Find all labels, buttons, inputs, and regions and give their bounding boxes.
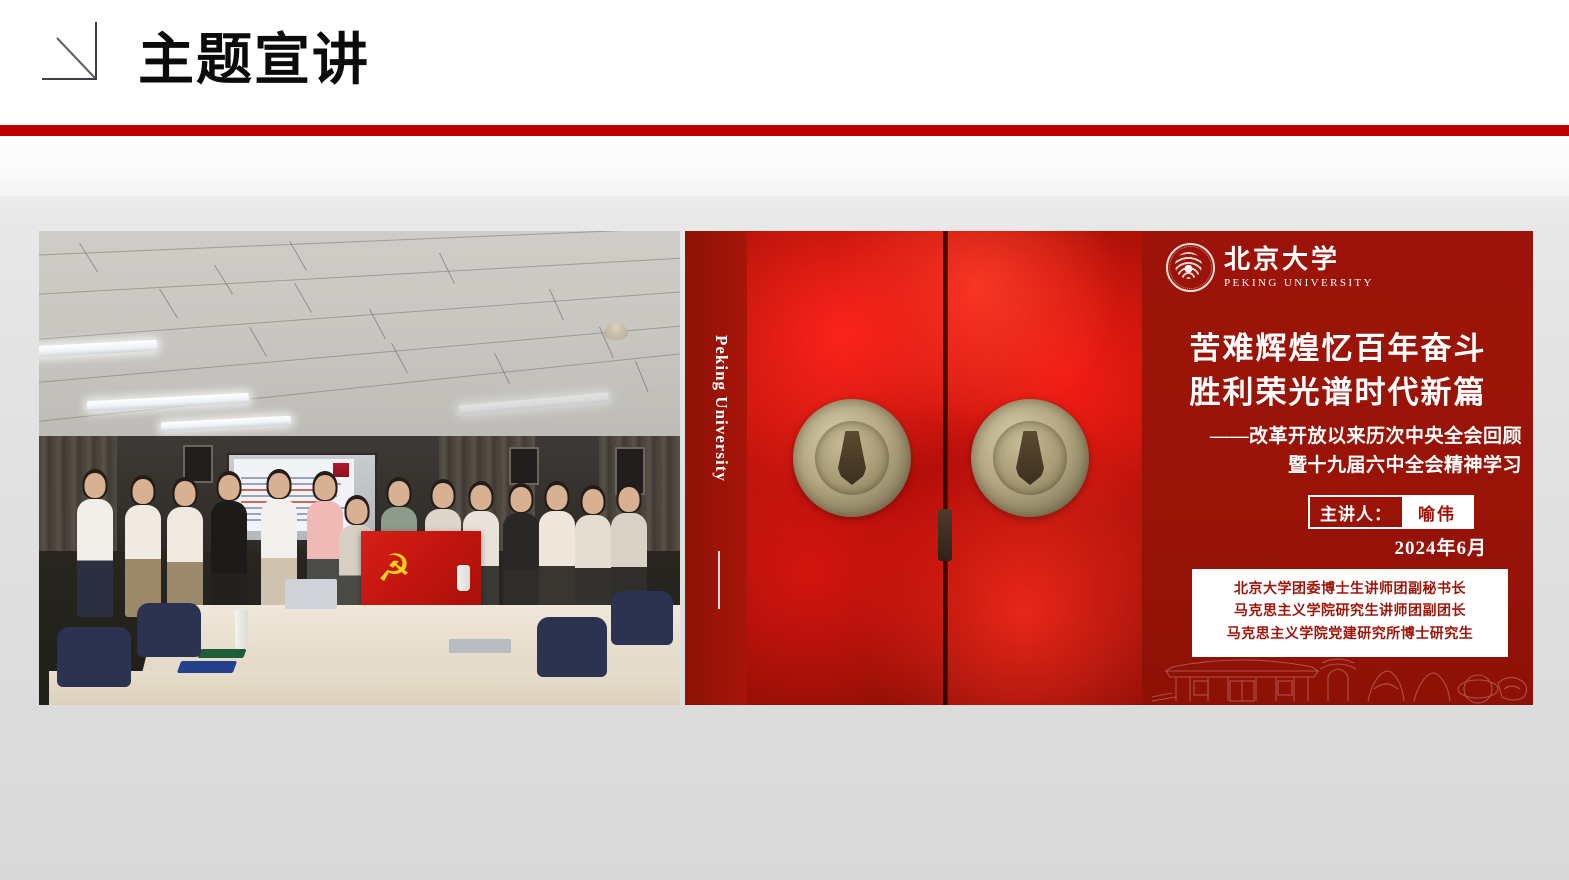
lecture-poster[interactable]: Peking University 北京大学 PEKING UNIV	[685, 231, 1533, 705]
brass-knocker-icon	[971, 399, 1089, 517]
person	[211, 501, 247, 617]
poster-spine: Peking University	[685, 231, 747, 705]
poster-title-line: 胜利荣光谱时代新篇	[1162, 371, 1514, 415]
person	[539, 511, 575, 617]
pku-brand: 北京大学 PEKING UNIVERSITY	[1166, 243, 1374, 292]
pku-name-cn: 北京大学	[1224, 247, 1374, 273]
person	[575, 515, 611, 617]
ceiling-light	[39, 340, 157, 358]
ceiling-light	[87, 393, 249, 411]
slide-logo	[333, 463, 349, 477]
speaker-name: 喻伟	[1402, 497, 1472, 527]
wall-picture-frame	[509, 447, 539, 485]
poster-title: 苦难辉煌忆百年奋斗 胜利荣光谱时代新篇	[1162, 327, 1514, 415]
door-latch	[938, 509, 952, 561]
spine-rule	[718, 551, 720, 609]
notebook	[177, 661, 237, 673]
water-bottle	[457, 565, 470, 591]
laptop	[449, 639, 511, 653]
page-header: 主题宣讲	[0, 0, 1569, 125]
spine-label: Peking University	[711, 335, 731, 482]
laptop	[285, 579, 337, 609]
credential-line: 马克思主义学院党建研究所博士研究生	[1200, 624, 1500, 646]
notebook	[197, 649, 246, 658]
west-gate-line-art-icon	[1142, 649, 1533, 705]
speaker-credentials: 北京大学团委博士生讲师团副秘书长 马克思主义学院研究生讲师团副团长 马克思主义学…	[1192, 569, 1508, 657]
media-row: ☭ Peking University	[39, 231, 1533, 705]
speaker-box: 主讲人： 喻伟	[1308, 495, 1474, 529]
person	[125, 505, 161, 617]
smoke-detector	[604, 323, 628, 340]
pku-name-en: PEKING UNIVERSITY	[1224, 277, 1374, 289]
page-title: 主题宣讲	[138, 32, 370, 91]
poster-text-panel: 北京大学 PEKING UNIVERSITY 苦难辉煌忆百年奋斗 胜利荣光谱时代…	[1142, 231, 1533, 705]
credential-line: 北京大学团委博士生讲师团副秘书长	[1200, 579, 1500, 601]
poster-subtitle-line: 暨十九届六中全会精神学习	[1148, 452, 1522, 481]
diagonal-arrow-corner-icon	[40, 20, 98, 82]
office-chair	[137, 603, 201, 657]
peking-university-seal-icon	[1166, 243, 1215, 292]
person	[503, 513, 539, 617]
poster-date: 2024年6月	[1394, 533, 1487, 560]
poster-title-line: 苦难辉煌忆百年奋斗	[1162, 327, 1514, 371]
person	[167, 507, 203, 617]
door-seam	[943, 231, 948, 705]
speaker-label: 主讲人：	[1310, 497, 1402, 527]
ceiling	[39, 231, 680, 443]
office-chair	[537, 617, 607, 677]
header-lower-band	[0, 136, 1569, 196]
office-chair	[611, 591, 673, 645]
ceiling-light	[161, 416, 291, 432]
group-photo[interactable]: ☭	[39, 231, 680, 705]
water-bottle	[235, 609, 248, 649]
poster-subtitle: ——改革开放以来历次中央全会回顾 暨十九届六中全会精神学习	[1148, 423, 1528, 480]
credential-line: 马克思主义学院研究生讲师团副团长	[1200, 601, 1500, 623]
brass-knocker-icon	[793, 399, 911, 517]
office-chair	[57, 627, 131, 687]
ceiling-light	[459, 392, 609, 414]
person	[77, 499, 113, 617]
header-red-divider	[0, 125, 1569, 136]
poster-subtitle-line: ——改革开放以来历次中央全会回顾	[1148, 423, 1522, 452]
red-door-image	[747, 231, 1142, 705]
hammer-and-sickle-icon: ☭	[377, 549, 423, 591]
